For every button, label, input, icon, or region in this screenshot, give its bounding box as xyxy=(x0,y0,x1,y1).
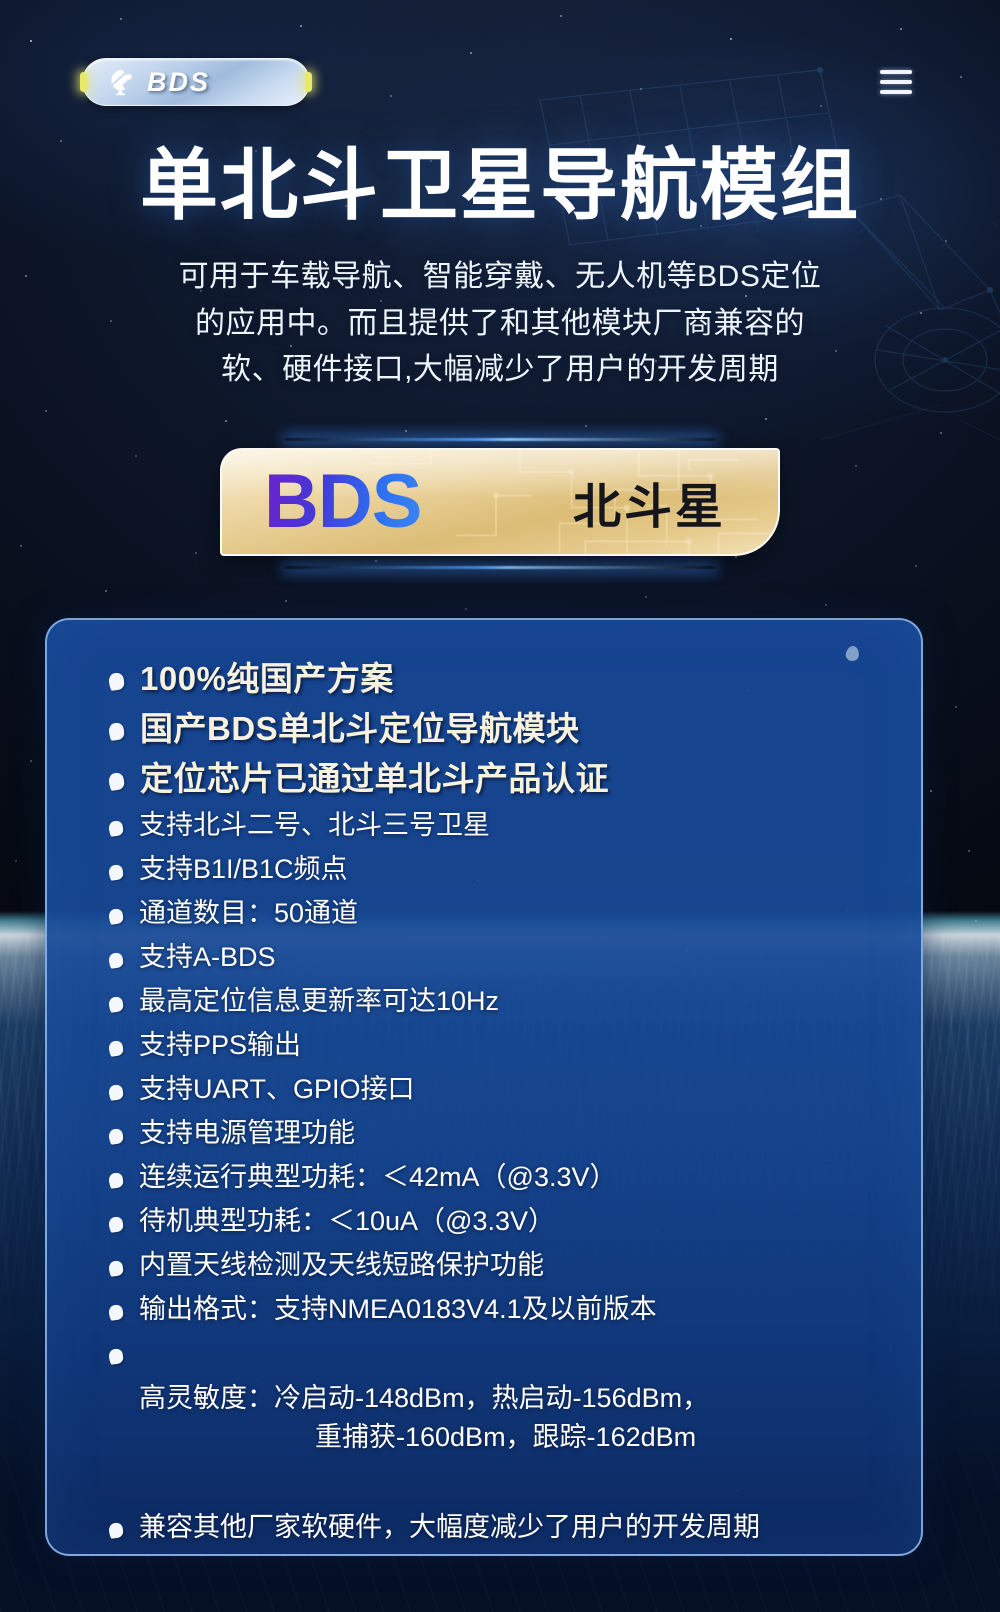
spec-item-label: 支持UART、GPIO接口 xyxy=(139,1076,415,1103)
banner-glow-bottom xyxy=(285,566,715,569)
bullet-icon xyxy=(108,908,124,925)
banner-brand-text: BDS xyxy=(264,464,421,540)
spec-item-label: 通道数目：50通道 xyxy=(139,900,358,927)
list-item: 兼容其他厂家软硬件，大幅度减少了用户的开发周期 xyxy=(109,1514,881,1541)
bullet-icon xyxy=(108,1304,124,1321)
banner-glow-top xyxy=(285,438,715,441)
bullet-icon xyxy=(108,1348,124,1365)
list-item: 支持A-BDS xyxy=(109,944,881,971)
bullet-icon xyxy=(108,1522,124,1539)
list-item: 支持北斗二号、北斗三号卫星 xyxy=(109,812,881,839)
hero-section: 单北斗卫星导航模组 可用于车载导航、智能穿戴、无人机等BDS定位 的应用中。而且… xyxy=(0,145,1000,394)
bullet-icon xyxy=(108,996,124,1013)
list-item: 国产BDS单北斗定位导航模块 xyxy=(109,712,881,745)
list-item: 支持UART、GPIO接口 xyxy=(109,1076,881,1103)
bullet-icon xyxy=(108,1260,124,1277)
bullet-icon xyxy=(108,1172,124,1189)
product-poster-page: BDS 单北斗卫星导航模组 可用于车载导航、智能穿戴、无人机等BDS定位 的应用… xyxy=(0,0,1000,1612)
bullet-icon xyxy=(108,864,124,881)
spec-item-label-line-2: 重捕获-160dBm，跟踪-162dBm xyxy=(139,1418,709,1457)
spec-item-label: 100%纯国产方案 xyxy=(140,662,394,695)
spec-item-label: 支持B1I/B1C频点 xyxy=(139,856,348,883)
hamburger-line-3 xyxy=(880,90,912,94)
hero-subtitle-line-1: 可用于车载导航、智能穿戴、无人机等BDS定位 xyxy=(0,254,1000,301)
list-item: 连续运行典型功耗：＜42mA（@3.3V） xyxy=(109,1164,881,1191)
top-bar: BDS xyxy=(0,0,1000,140)
hero-subtitle-line-2: 的应用中。而且提供了和其他模块厂商兼容的 xyxy=(0,301,1000,348)
spec-item-label: 最高定位信息更新率可达10Hz xyxy=(139,988,499,1015)
spec-item-label: 待机典型功耗：＜10uA（@3.3V） xyxy=(139,1208,555,1235)
spec-item-label: 兼容其他厂家软硬件，大幅度减少了用户的开发周期 xyxy=(139,1514,760,1541)
list-item: 最高定位信息更新率可达10Hz xyxy=(109,988,881,1015)
spec-item-label: 连续运行典型功耗：＜42mA（@3.3V） xyxy=(139,1164,616,1191)
hamburger-menu-icon[interactable] xyxy=(880,70,912,94)
spec-item-label: 支持PPS输出 xyxy=(139,1032,301,1059)
list-item: 支持B1I/B1C频点 xyxy=(109,856,881,883)
bullet-icon xyxy=(108,672,125,691)
bullet-icon xyxy=(108,952,124,969)
bullet-icon xyxy=(108,1040,124,1057)
list-item: 待机典型功耗：＜10uA（@3.3V） xyxy=(109,1208,881,1235)
page-title: 单北斗卫星导航模组 xyxy=(0,145,1000,226)
spec-item-label-line-1: 高灵敏度：冷启动-148dBm，热启动-156dBm， xyxy=(139,1383,709,1413)
hamburger-line-2 xyxy=(880,80,912,84)
banner-brand-cn-text: 北斗星 xyxy=(573,467,726,537)
spec-item-label: 国产BDS单北斗定位导航模块 xyxy=(140,712,580,745)
spec-item-label: 高灵敏度：冷启动-148dBm，热启动-156dBm， 重捕获-160dBm，跟… xyxy=(139,1340,709,1497)
brand-banner: BDS 北斗星 xyxy=(220,448,780,556)
hero-subtitle-line-3: 软、硬件接口,大幅减少了用户的开发周期 xyxy=(0,347,1000,394)
hero-subtitle: 可用于车载导航、智能穿戴、无人机等BDS定位 的应用中。而且提供了和其他模块厂商… xyxy=(0,254,1000,394)
list-item: 支持电源管理功能 xyxy=(109,1120,881,1147)
list-item: 内置天线检测及天线短路保护功能 xyxy=(109,1252,881,1279)
list-item: 通道数目：50通道 xyxy=(109,900,881,927)
spec-item-label: 内置天线检测及天线短路保护功能 xyxy=(139,1252,544,1279)
spec-item-label: 输出格式：支持NMEA0183V4.1及以前版本 xyxy=(139,1296,657,1323)
spec-item-label: 支持A-BDS xyxy=(139,944,276,971)
spec-list: 100%纯国产方案 国产BDS单北斗定位导航模块 定位芯片已通过单北斗产品认证 … xyxy=(47,620,921,1541)
list-item: 100%纯国产方案 xyxy=(109,662,881,695)
spec-card: 100%纯国产方案 国产BDS单北斗定位导航模块 定位芯片已通过单北斗产品认证 … xyxy=(45,618,923,1556)
bullet-icon xyxy=(108,1128,124,1145)
list-item: 支持PPS输出 xyxy=(109,1032,881,1059)
satellite-dish-icon xyxy=(107,67,137,97)
logo-text: BDS xyxy=(147,67,210,98)
bullet-icon xyxy=(108,1216,124,1233)
list-item: 输出格式：支持NMEA0183V4.1及以前版本 xyxy=(109,1296,881,1323)
hamburger-line-1 xyxy=(880,70,912,74)
list-item: 高灵敏度：冷启动-148dBm，热启动-156dBm， 重捕获-160dBm，跟… xyxy=(109,1340,881,1497)
bullet-icon xyxy=(108,722,125,741)
bds-logo[interactable]: BDS xyxy=(82,58,310,106)
brand-banner-wrap: BDS 北斗星 xyxy=(0,448,1000,556)
bullet-icon xyxy=(108,820,124,837)
bullet-icon xyxy=(108,1084,124,1101)
spec-item-label: 支持北斗二号、北斗三号卫星 xyxy=(139,812,490,839)
spec-item-label: 支持电源管理功能 xyxy=(139,1120,355,1147)
spec-item-label: 定位芯片已通过单北斗产品认证 xyxy=(140,762,609,795)
list-item: 定位芯片已通过单北斗产品认证 xyxy=(109,762,881,795)
bullet-icon xyxy=(108,772,125,791)
